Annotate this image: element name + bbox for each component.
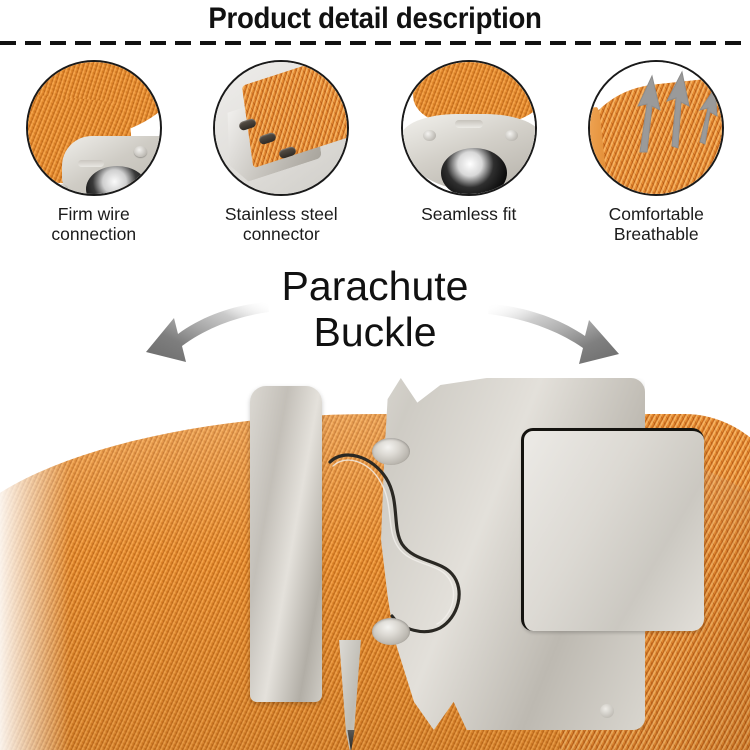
feature-label-line2: Breathable <box>566 224 746 244</box>
feature-list: Firm wire connection Stainless steel con… <box>0 60 750 255</box>
product-photo <box>0 378 750 750</box>
release-slot <box>78 160 104 167</box>
feature-item-firm-wire-connection: Firm wire connection <box>0 60 188 255</box>
feature-label-line1: Comfortable <box>566 204 746 224</box>
release-slot <box>455 120 483 128</box>
photo-edge-fade <box>0 378 70 750</box>
feature-label: Comfortable Breathable <box>566 204 746 244</box>
feature-label: Firm wire connection <box>4 204 184 244</box>
feature-label-line1: Stainless steel <box>191 204 371 224</box>
feature-label-line1: Seamless fit <box>379 204 559 224</box>
curved-arrow-left-icon <box>140 296 270 368</box>
feature-image-stainless-steel-connector <box>213 60 349 196</box>
buckle-plate <box>521 428 704 631</box>
headline-line2: Buckle <box>0 309 750 355</box>
buckle-left-tab <box>250 386 322 702</box>
screw-icon <box>134 146 147 157</box>
sensor-dome <box>441 148 507 196</box>
airflow-arrow-icon <box>616 68 720 154</box>
feature-label: Stainless steel connector <box>191 204 371 244</box>
feature-label-line2: connector <box>191 224 371 244</box>
buckle-rivet <box>372 618 410 645</box>
feature-item-seamless-fit: Seamless fit <box>375 60 563 255</box>
page-title: Product detail description <box>30 2 720 36</box>
feature-item-comfortable-breathable: Comfortable Breathable <box>563 60 750 255</box>
feature-image-firm-wire-connection <box>26 60 162 196</box>
headline: Parachute Buckle <box>0 263 750 355</box>
buckle-rivet <box>372 438 410 465</box>
feature-image-comfortable-breathable <box>588 60 724 196</box>
feature-label: Seamless fit <box>379 204 559 224</box>
feature-item-stainless-steel-connector: Stainless steel connector <box>188 60 376 255</box>
screw-icon <box>600 704 614 718</box>
headline-line1: Parachute <box>0 263 750 309</box>
feature-label-line2: connection <box>4 224 184 244</box>
dashed-divider <box>0 41 750 45</box>
screw-icon <box>56 184 68 194</box>
feature-image-seamless-fit <box>401 60 537 196</box>
screw-icon <box>423 130 436 141</box>
screw-icon <box>505 130 518 141</box>
feature-label-line1: Firm wire <box>4 204 184 224</box>
curved-arrow-right-icon <box>485 296 625 368</box>
product-detail-page: Product detail description Firm wire con… <box>0 0 750 750</box>
